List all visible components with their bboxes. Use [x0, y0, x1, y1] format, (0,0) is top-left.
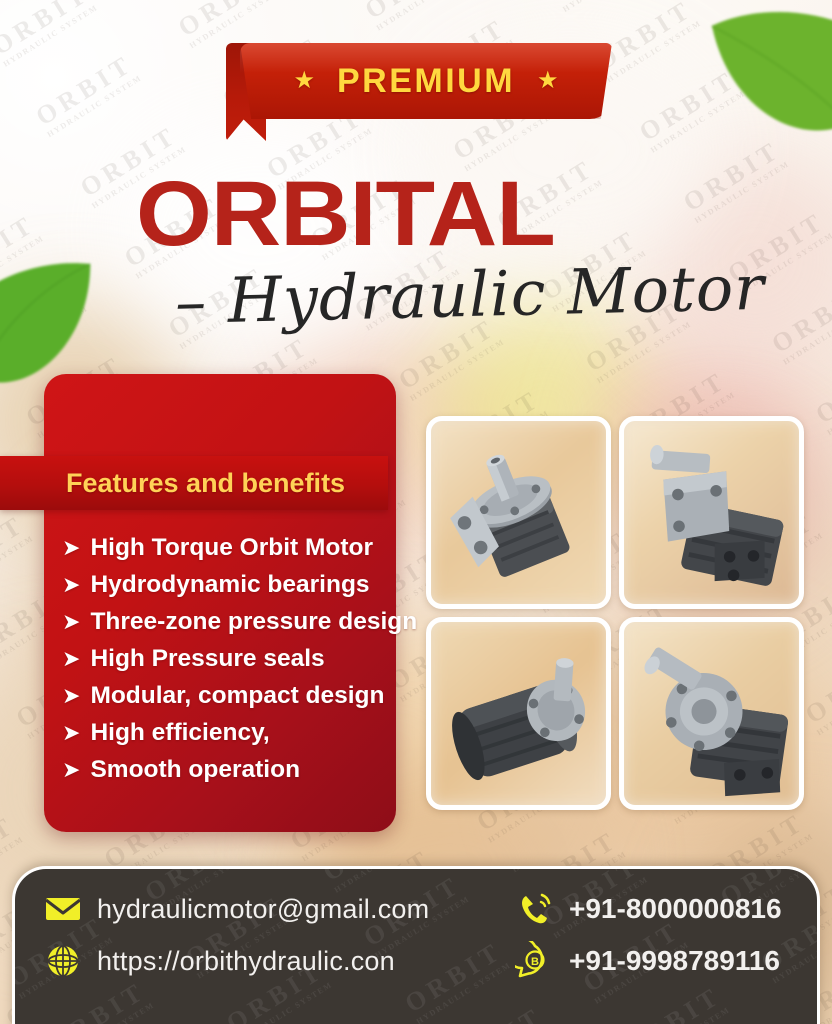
- contact-rows: hydraulicmotor@gmail.com +91-8000000816: [15, 869, 817, 891]
- feature-item-label: High Torque Orbit Motor: [90, 534, 373, 562]
- whatsapp-business-icon: B: [515, 941, 555, 981]
- feature-item-label: Hydrodynamic bearings: [90, 571, 369, 599]
- feature-item: ➤High efficiency,: [62, 719, 462, 747]
- product-image-grid: [426, 416, 804, 810]
- product-photo-3: [426, 617, 611, 810]
- feature-item: ➤High Torque Orbit Motor: [62, 534, 462, 562]
- contact-email[interactable]: hydraulicmotor@gmail.com: [43, 883, 513, 935]
- watermark-tile: ORBITHYDRAULIC SYSTEM: [441, 1002, 554, 1024]
- arrow-bullet-icon: ➤: [62, 723, 80, 745]
- orbital-motor-tapered-shaft-view: [624, 622, 799, 805]
- phone-icon: [515, 889, 555, 929]
- premium-label: PREMIUM: [337, 62, 515, 101]
- product-photo-2: [619, 416, 804, 609]
- page-title: ORBITAL: [136, 168, 555, 260]
- svg-text:B: B: [531, 956, 539, 968]
- features-heading: Features and benefits: [66, 468, 345, 499]
- feature-item: ➤Smooth operation: [62, 756, 462, 784]
- green-leaf-left-icon: [0, 258, 105, 390]
- star-icon: ★: [293, 69, 315, 93]
- product-photo-4: [619, 617, 804, 810]
- arrow-bullet-icon: ➤: [62, 612, 80, 634]
- feature-item: ➤High Pressure seals: [62, 645, 462, 673]
- globe-icon: [43, 941, 83, 981]
- feature-item: ➤Modular, compact design: [62, 682, 462, 710]
- feature-item-label: Modular, compact design: [90, 682, 384, 710]
- contact-website[interactable]: https://orbithydraulic.con: [43, 935, 513, 987]
- feature-item-label: High Pressure seals: [90, 645, 324, 673]
- arrow-bullet-icon: ➤: [62, 649, 80, 671]
- arrow-bullet-icon: ➤: [62, 538, 80, 560]
- phone-text: +91-8000000816: [569, 893, 782, 925]
- feature-item: ➤Hydrodynamic bearings: [62, 571, 462, 599]
- orbital-motor-cylindrical-body-view: [431, 622, 606, 805]
- contact-whatsapp[interactable]: B +91-9998789116: [515, 935, 820, 987]
- ribbon-body: ★ PREMIUM ★: [240, 43, 612, 119]
- features-heading-bar: Features and benefits: [0, 456, 388, 510]
- watermark-tile: ORBITHYDRAULIC SYSTEM: [619, 982, 732, 1024]
- premium-badge: ★ PREMIUM ★: [226, 43, 612, 119]
- feature-item-label: Three-zone pressure design: [90, 608, 417, 636]
- website-text: https://orbithydraulic.con: [97, 946, 395, 977]
- arrow-bullet-icon: ➤: [62, 760, 80, 782]
- feature-item-label: Smooth operation: [90, 756, 300, 784]
- feature-item: ➤Three-zone pressure design: [62, 608, 462, 636]
- product-photo-1: [426, 416, 611, 609]
- page-subtitle: – Hydraulic Motor: [174, 251, 765, 338]
- star-icon: ★: [537, 69, 559, 93]
- arrow-bullet-icon: ➤: [62, 575, 80, 597]
- orbital-motor-side-flange-view: [431, 421, 606, 604]
- features-list: ➤High Torque Orbit Motor➤Hydrodynamic be…: [62, 534, 462, 793]
- email-text: hydraulicmotor@gmail.com: [97, 894, 429, 925]
- orbital-motor-splined-shaft-view: [624, 421, 799, 604]
- promotional-poster: ORBITHYDRAULIC SYSTEMORBITHYDRAULIC SYST…: [0, 0, 832, 1024]
- feature-item-label: High efficiency,: [90, 719, 269, 747]
- envelope-icon: [43, 889, 83, 929]
- arrow-bullet-icon: ➤: [62, 686, 80, 708]
- contact-footer: ORBITHYDRAULIC SYSTEMORBITHYDRAULIC SYST…: [12, 866, 820, 1024]
- contact-phone[interactable]: +91-8000000816: [515, 883, 820, 935]
- features-panel: Features and benefits ➤High Torque Orbit…: [44, 374, 396, 832]
- whatsapp-text: +91-9998789116: [569, 945, 780, 977]
